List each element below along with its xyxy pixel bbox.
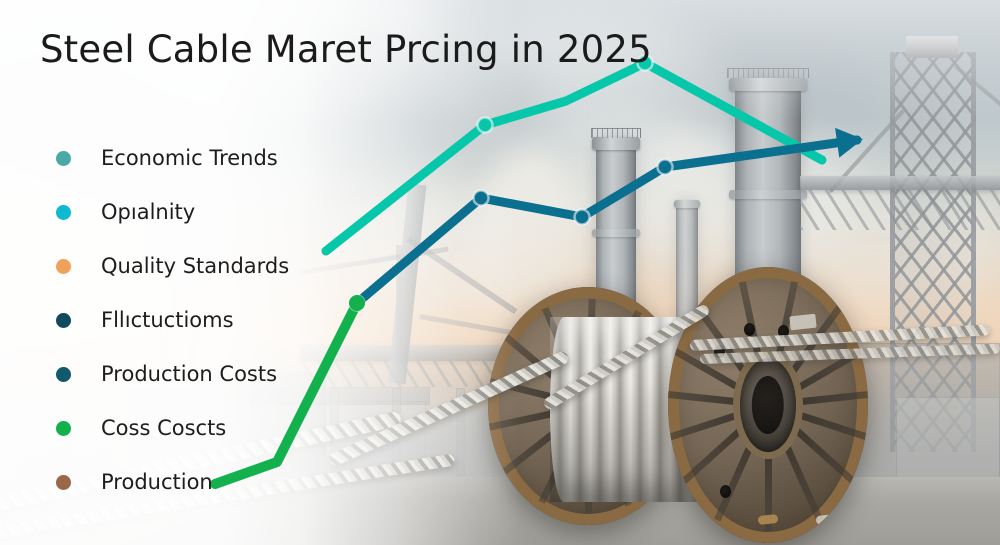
legend-item-coss-coscts[interactable]: Coss Coscts: [56, 401, 289, 455]
spool-label-sticker: [816, 514, 837, 525]
legend-item-fluctuations[interactable]: Fllıctuctioms: [56, 293, 289, 347]
legend-dot-icon: [56, 259, 71, 274]
spool-bolt-hole: [744, 323, 755, 336]
legend-item-opialnity[interactable]: Opıalnity: [56, 185, 289, 239]
legend-dot-icon: [56, 205, 71, 220]
legend-item-label: Quality Standards: [101, 254, 289, 278]
legend-item-quality-standards[interactable]: Quality Standards: [56, 239, 289, 293]
legend-item-production[interactable]: Production: [56, 455, 289, 509]
infographic-banner: Steel Cable Maret Prcing in 2025 Economi…: [0, 0, 1000, 545]
legend-dot-icon: [56, 313, 71, 328]
page-title: Steel Cable Maret Prcing in 2025: [40, 28, 652, 71]
legend-item-label: Production Costs: [101, 362, 277, 386]
legend-dot-icon: [56, 475, 71, 490]
legend-item-production-costs[interactable]: Production Costs: [56, 347, 289, 401]
legend-item-label: Coss Coscts: [101, 416, 226, 440]
spool-bolt-hole: [720, 485, 731, 498]
legend-item-economic-trends[interactable]: Economic Trends: [56, 131, 289, 185]
tower-gantry-deck: [800, 176, 1000, 190]
legend-item-label: Fllıctuctioms: [101, 308, 234, 332]
chart-legend: Economic Trends Opıalnity Quality Standa…: [56, 131, 289, 509]
legend-dot-icon: [56, 367, 71, 382]
legend-item-label: Production: [101, 470, 213, 494]
spool-label-sticker: [789, 314, 816, 331]
legend-dot-icon: [56, 151, 71, 166]
legend-item-label: Economic Trends: [101, 146, 278, 170]
spool-hub: [740, 358, 796, 452]
tower-gantry-truss: [800, 190, 1000, 230]
cable-spool: [480, 265, 900, 545]
legend-item-label: Opıalnity: [101, 200, 195, 224]
legend-dot-icon: [56, 421, 71, 436]
